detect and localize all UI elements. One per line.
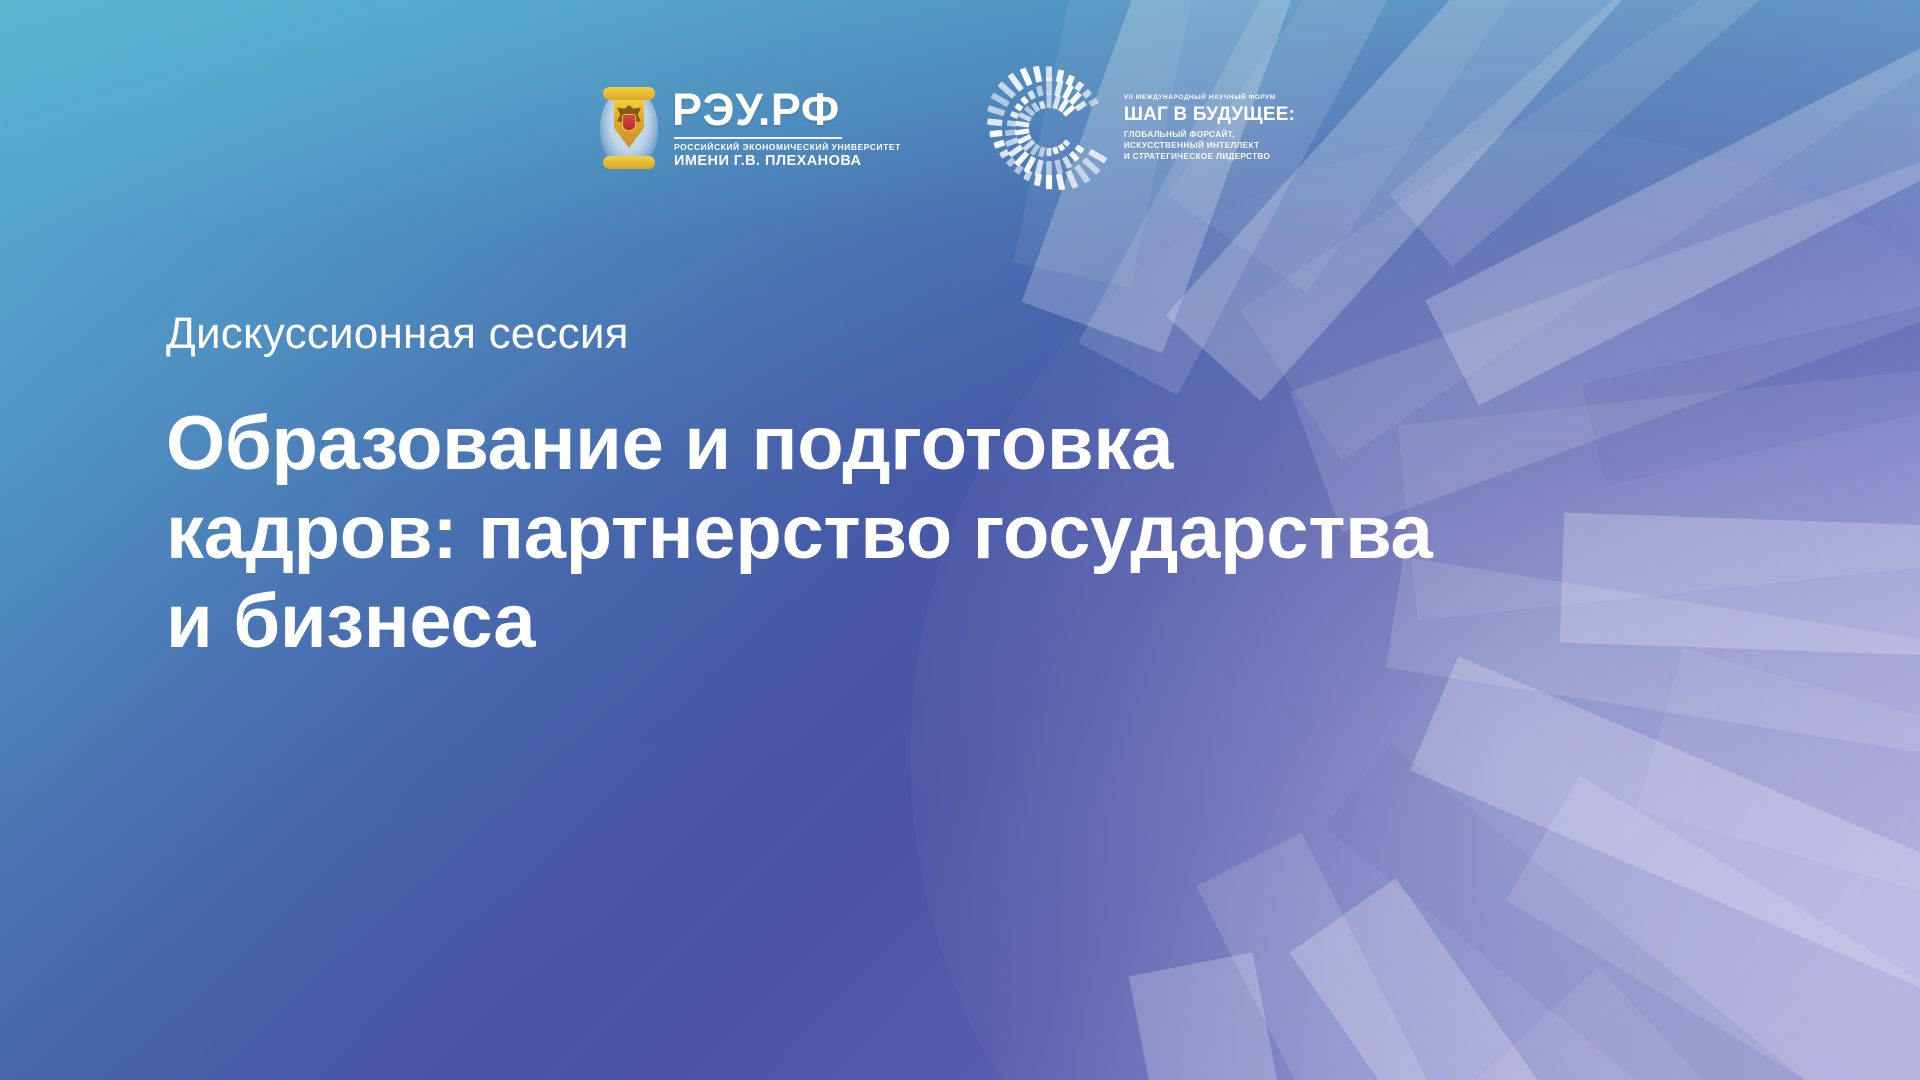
logo-row: РЭУ.РФ РОССИЙСКИЙ ЭКОНОМИЧЕСКИЙ УНИВЕРСИ… — [598, 66, 1295, 190]
university-subtitle-line1: РОССИЙСКИЙ ЭКОНОМИЧЕСКИЙ УНИВЕРСИТЕТ — [674, 143, 901, 153]
forum-title: ШАГ В БУДУЩЕЕ: — [1124, 105, 1295, 124]
university-subtitle-line2: ИМЕНИ Г.В. ПЛЕХАНОВА — [674, 153, 901, 170]
forum-subtitle-line1: ГЛОБАЛЬНЫЙ ФОРСАЙТ, — [1124, 129, 1295, 140]
slide-title: Образование и подготовка кадров: партнер… — [166, 400, 1456, 667]
slide-copy: Дискуссионная сессия Образование и подго… — [166, 310, 1486, 667]
forum-logo: VII МЕЖДУНАРОДНЫЙ НАУЧНЫЙ ФОРУМ ШАГ В БУ… — [987, 66, 1295, 190]
radial-burst-icon — [987, 66, 1111, 190]
university-divider-rule — [674, 137, 842, 139]
forum-kicker: VII МЕЖДУНАРОДНЫЙ НАУЧНЫЙ ФОРУМ — [1124, 94, 1295, 102]
university-logo-text: РЭУ.РФ РОССИЙСКИЙ ЭКОНОМИЧЕСКИЙ УНИВЕРСИ… — [672, 87, 901, 169]
session-type-label: Дискуссионная сессия — [166, 310, 1486, 358]
forum-logo-text: VII МЕЖДУНАРОДНЫЙ НАУЧНЫЙ ФОРУМ ШАГ В БУ… — [1124, 94, 1295, 162]
forum-subtitle-line3: И СТРАТЕГИЧЕСКОЕ ЛИДЕРСТВО — [1124, 151, 1295, 162]
presentation-slide: РЭУ.РФ РОССИЙСКИЙ ЭКОНОМИЧЕСКИЙ УНИВЕРСИ… — [0, 0, 1920, 1080]
russian-coat-of-arms-icon — [598, 84, 660, 172]
university-logo: РЭУ.РФ РОССИЙСКИЙ ЭКОНОМИЧЕСКИЙ УНИВЕРСИ… — [598, 84, 901, 172]
forum-subtitle-line2: ИСКУССТВЕННЫЙ ИНТЕЛЛЕКТ — [1124, 140, 1295, 151]
university-wordmark: РЭУ.РФ — [672, 87, 901, 132]
